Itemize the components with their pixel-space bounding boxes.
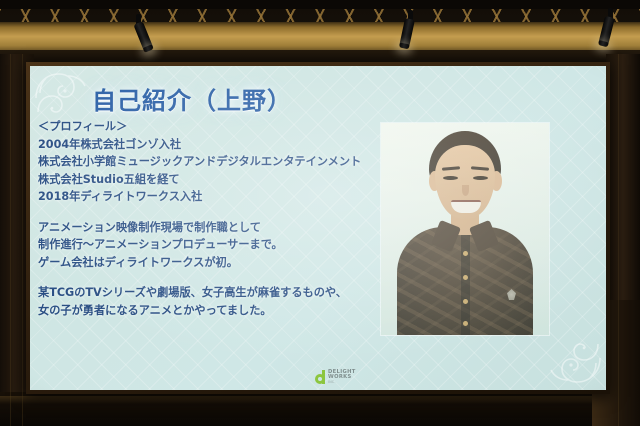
- body-line: 株式会社小学館ミュージックアンドデジタルエンタテインメント: [38, 153, 368, 171]
- ceiling-beam: [0, 0, 640, 9]
- delight-works-logo: DELIGHT WORKS INC.: [315, 368, 377, 386]
- body-line: 制作進行～アニメーションプロデューサーまで。: [38, 236, 368, 254]
- corner-ornament-icon: [528, 326, 604, 388]
- body-line: ＜プロフィール＞: [38, 118, 368, 136]
- presentation-slide: 自己紹介（上野） ＜プロフィール＞ 2004年株式会社ゴンゾ入社 株式会社小学館…: [30, 66, 606, 390]
- logo-line-3: INC.: [328, 381, 356, 384]
- body-line: 株式会社Studio五組を経て: [38, 171, 368, 189]
- body-line: 女の子が勇者になるアニメとかやってました。: [38, 302, 368, 320]
- delight-works-mark-icon: [315, 370, 325, 384]
- wall-highlight-strip: [0, 396, 640, 404]
- wall-seam-1: [10, 54, 11, 426]
- body-line: ゲーム会社はディライトワークスが初。: [38, 254, 368, 272]
- photo-color-cast: [381, 123, 549, 335]
- slide-body: ＜プロフィール＞ 2004年株式会社ゴンゾ入社 株式会社小学館ミュージックアンド…: [38, 118, 368, 319]
- logo-wordmark: DELIGHT WORKS INC.: [328, 370, 356, 384]
- logo-stem: [322, 370, 325, 384]
- wall-seam-2: [22, 54, 23, 426]
- body-spacer: [38, 206, 368, 219]
- body-line: 2004年株式会社ゴンゾ入社: [38, 136, 368, 154]
- room-scene: 自己紹介（上野） ＜プロフィール＞ 2004年株式会社ゴンゾ入社 株式会社小学館…: [0, 0, 640, 426]
- slide-title: 自己紹介（上野）: [92, 81, 292, 116]
- presenter-photo: [381, 123, 549, 335]
- body-line: 某TCGのTVシリーズや劇場版、女子高生が麻雀するものや、: [38, 284, 368, 302]
- body-line: 2018年ディライトワークス入社: [38, 188, 368, 206]
- projection-screen-frame: 自己紹介（上野） ＜プロフィール＞ 2004年株式会社ゴンゾ入社 株式会社小学館…: [26, 62, 610, 394]
- wall-seam-3: [618, 54, 619, 426]
- body-line: アニメーション映像制作現場で制作職として: [38, 219, 368, 237]
- body-spacer: [38, 271, 368, 284]
